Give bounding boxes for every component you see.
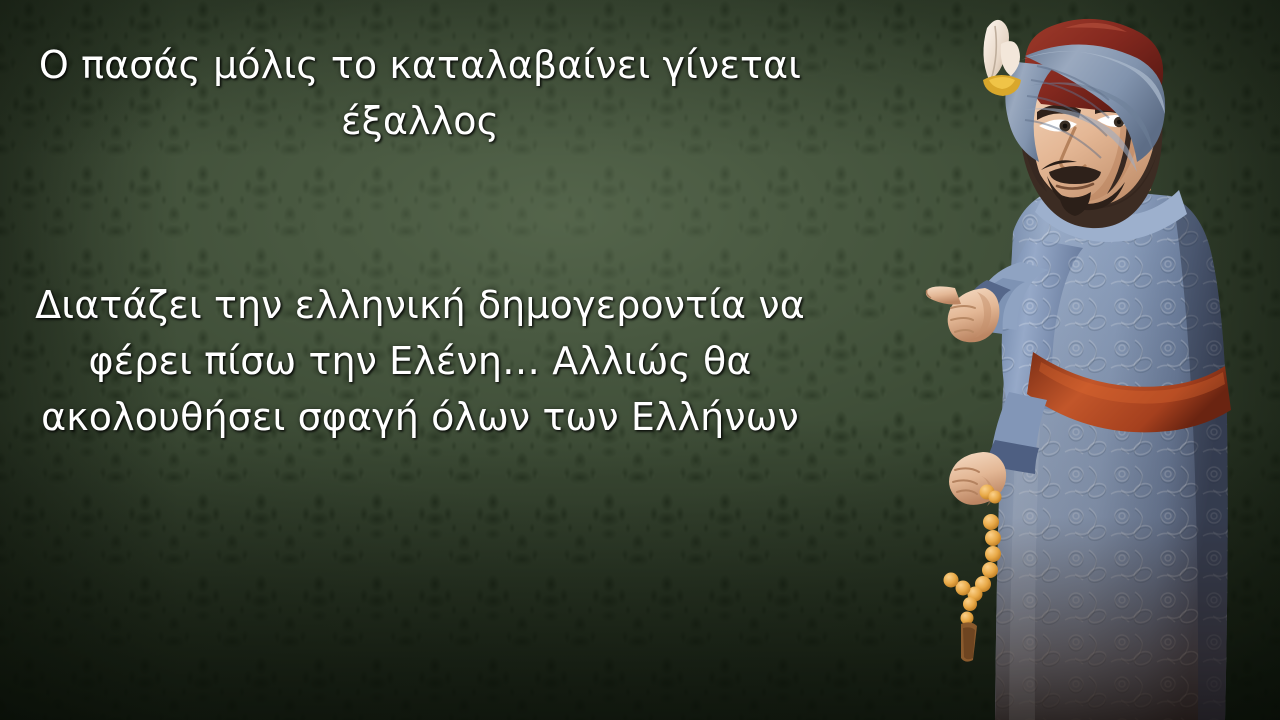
pasha-illustration (925, 0, 1280, 720)
presentation-slide: Ο πασάς μόλις το καταλαβαίνει γίνεται έξ… (0, 0, 1280, 720)
text-container: Ο πασάς μόλις το καταλαβαίνει γίνεται έξ… (0, 0, 840, 720)
paragraph-1: Ο πασάς μόλις το καταλαβαίνει γίνεται έξ… (24, 38, 816, 150)
prayer-beads (944, 485, 1002, 662)
feather-plume (983, 20, 1021, 96)
paragraph-2: Διατάζει την ελληνική δημογεροντία να φέ… (24, 278, 816, 446)
pointing-hand (926, 286, 1000, 342)
